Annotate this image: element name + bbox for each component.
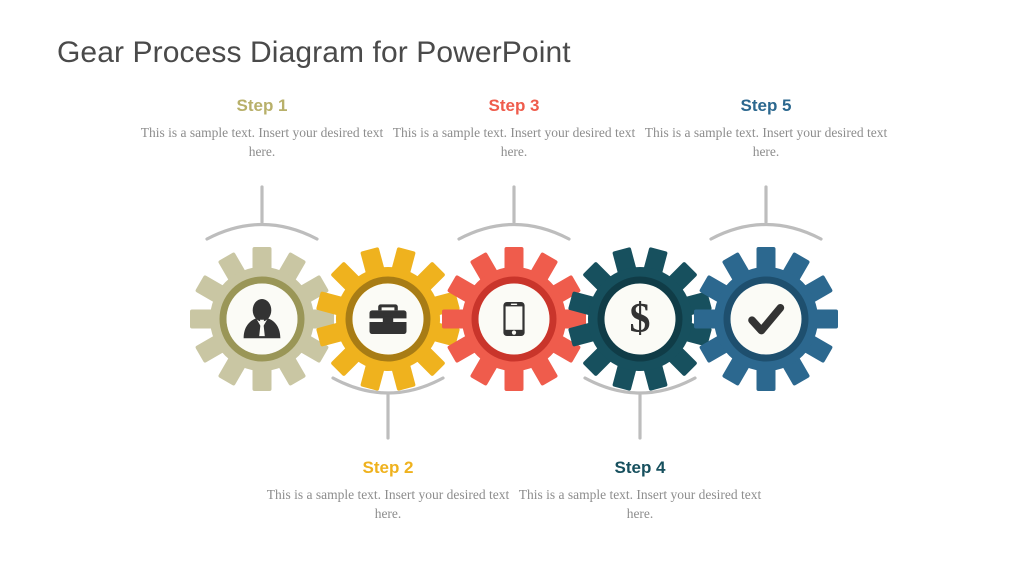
gear-hub-5 [731, 284, 802, 355]
gear-step-1[interactable] [190, 247, 334, 391]
slide-canvas: Gear Process Diagram for PowerPoint Step… [0, 0, 1024, 576]
gear-step-2[interactable] [316, 247, 460, 391]
smartphone-icon [503, 302, 524, 336]
gear-step-5[interactable] [694, 247, 838, 391]
gear-step-4[interactable]: $ [568, 247, 712, 391]
svg-text:$: $ [630, 296, 651, 342]
gear-row: $ [0, 0, 1024, 576]
dollar-icon: $ [630, 296, 651, 342]
gear-step-3[interactable] [442, 247, 586, 391]
